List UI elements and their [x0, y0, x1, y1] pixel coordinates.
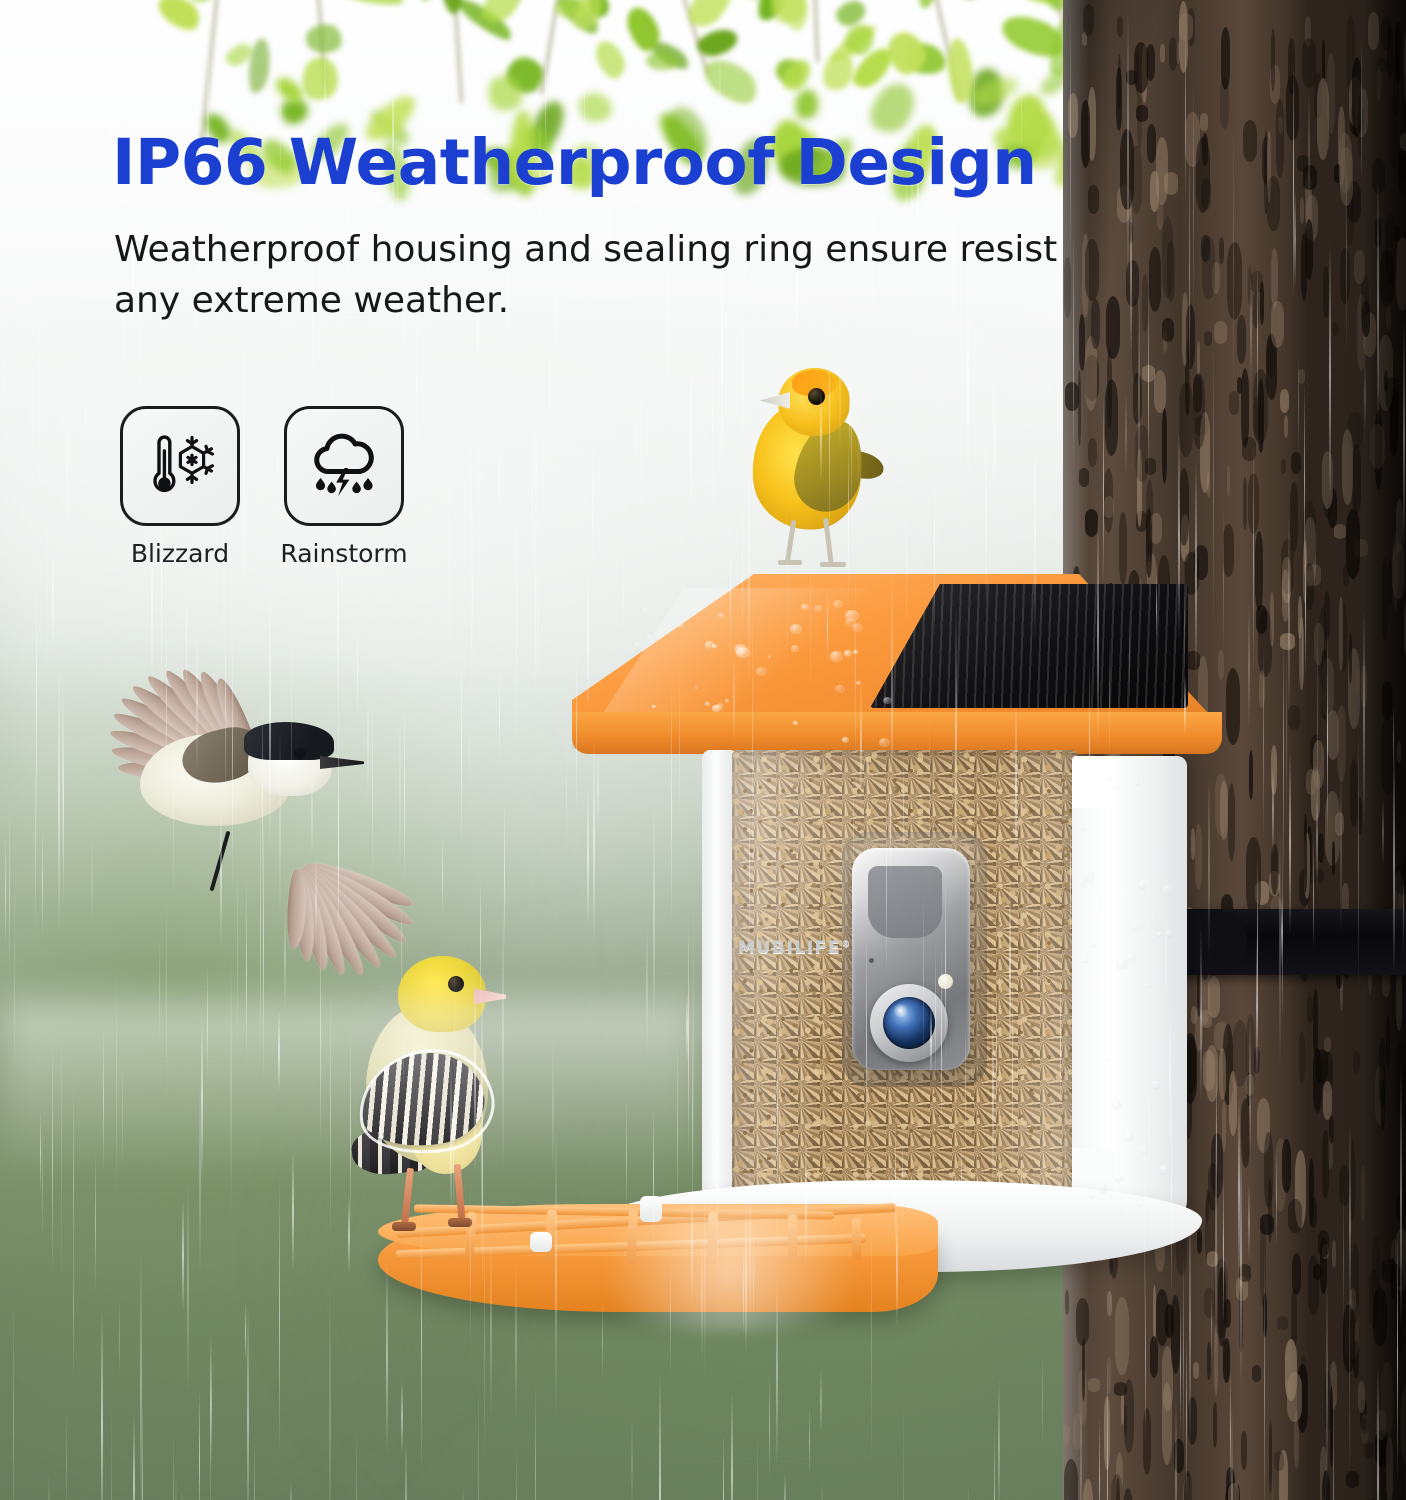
feature-rainstorm[interactable]: Rainstorm: [285, 406, 403, 568]
nuthatch-eye: [294, 748, 306, 760]
housing-water-droplets: [1078, 770, 1184, 1240]
canary-eye: [808, 388, 825, 405]
canary-leg-right: [823, 518, 834, 566]
feature-badges: Blizzard Rainstorm: [121, 406, 403, 568]
cloud-lightning-rain-icon: [306, 430, 382, 502]
camera-sensor-panel: [868, 866, 942, 938]
brand-name: MUBILIFE: [738, 938, 841, 958]
camera-microphone-icon: [869, 958, 874, 963]
bird-yellow-canary: [752, 368, 902, 583]
feature-blizzard-label: Blizzard: [131, 539, 229, 568]
canary-beak: [760, 392, 790, 409]
canary-foot-left: [778, 560, 802, 565]
tree-shadow: [1286, 0, 1406, 1500]
goldfinch-eye: [448, 976, 464, 992]
canary-foot-right: [820, 562, 846, 567]
lens-glint: [892, 1004, 909, 1017]
brand-logo: MUBILIFE®: [738, 938, 852, 958]
product-marketing-image: MUBILIFE®: [0, 0, 1406, 1500]
water-spray-tray: [560, 1210, 900, 1330]
goldfinch-foot-left: [392, 1222, 416, 1231]
feature-rainstorm-label: Rainstorm: [280, 539, 407, 568]
nuthatch-black-cap: [244, 722, 334, 760]
feature-blizzard[interactable]: Blizzard: [121, 406, 239, 568]
page-title: IP66 Weatherproof Design: [112, 131, 1122, 195]
rainstorm-icon-box: [284, 406, 404, 526]
bird-nuthatch-flying: [62, 672, 372, 922]
thermometer-snowflake-icon: [143, 429, 217, 503]
nuthatch-lower-wing: [148, 812, 348, 908]
brand-registered-mark: ®: [841, 939, 852, 949]
goldfinch-foot-right: [448, 1218, 472, 1227]
roof-water-droplets: [612, 600, 942, 750]
canary-leg-left: [785, 520, 797, 564]
nuthatch-beak: [320, 756, 364, 769]
motion-sensor-icon: [938, 974, 953, 989]
blizzard-icon-box: [120, 406, 240, 526]
page-subtitle: Weatherproof housing and sealing ring en…: [114, 224, 1064, 326]
camera-lens: [883, 997, 935, 1049]
scene-mist: [0, 1000, 700, 1180]
